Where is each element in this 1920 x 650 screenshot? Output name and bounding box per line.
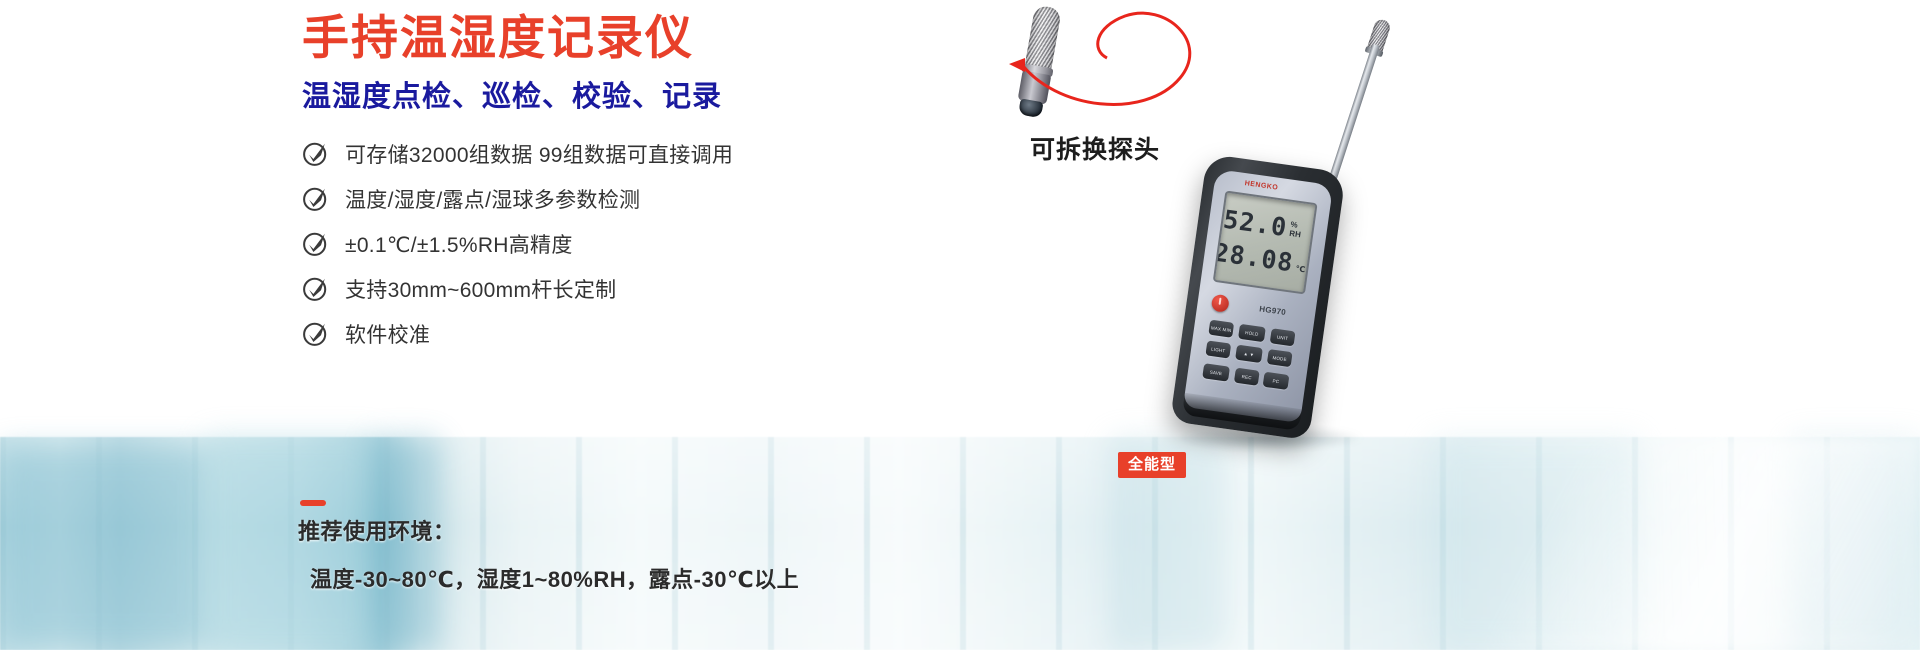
feature-text: 软件校准 — [345, 319, 430, 349]
keypad-button-label: UNIT — [1270, 333, 1294, 341]
keypad-button-label: LIGHT — [1206, 345, 1230, 353]
page-title: 手持温湿度记录仪 — [302, 8, 694, 68]
keypad-button[interactable]: REC — [1234, 368, 1260, 386]
lcd-humidity-unit: % RH — [1289, 220, 1312, 241]
list-item: 支持30mm~600mm杆长定制 — [302, 266, 942, 311]
environment-block: 推荐使用环境： 温度-30~80℃，湿度1~80%RH，露点-30℃以上 — [298, 515, 799, 596]
lcd-temperature-unit: ℃ — [1295, 264, 1306, 274]
check-circle-icon — [302, 275, 329, 302]
list-item: 可存储32000组数据 99组数据可直接调用 — [302, 131, 942, 176]
keypad-button[interactable]: UNIT — [1270, 328, 1296, 346]
keypad-button-label: MAX MIN — [1209, 325, 1233, 333]
lcd-temperature-value: 28.08 — [1213, 240, 1295, 276]
keypad-button[interactable]: LIGHT — [1205, 340, 1231, 358]
curved-arrow-icon — [995, 0, 1225, 120]
accent-dash — [300, 500, 326, 506]
keypad-button[interactable]: MAX MIN — [1208, 320, 1234, 338]
keypad-button-label: REC — [1235, 373, 1259, 381]
lcd-temperature-row: 28.08 ℃ — [1217, 240, 1313, 278]
model-label: HG970 — [1259, 304, 1287, 317]
lcd-display: 52.0 % RH 28.08 ℃ — [1213, 190, 1318, 294]
keypad-button-label: HOLD — [1239, 329, 1265, 338]
feature-text: 温度/湿度/露点/湿球多参数检测 — [345, 184, 640, 214]
environment-value: 温度-30~80℃，湿度1~80%RH，露点-30℃以上 — [310, 563, 799, 596]
list-item: 温度/湿度/露点/湿球多参数检测 — [302, 176, 942, 221]
list-item: 软件校准 — [302, 311, 942, 356]
check-circle-icon — [302, 230, 329, 257]
check-circle-icon — [302, 185, 329, 212]
product-area: 可拆换探头 HENGKO 52.0 % RH 28.08 — [940, 0, 1920, 650]
feature-text: 支持30mm~600mm杆长定制 — [345, 274, 616, 304]
probe-label: 可拆换探头 — [980, 130, 1210, 166]
text-column: 手持温湿度记录仪 温湿度点检、巡检、校验、记录 可存储32000组数据 99组数… — [0, 0, 960, 650]
status-badge: 全能型 — [1118, 452, 1186, 478]
brand-logo: HENGKO — [1244, 180, 1278, 192]
power-button[interactable] — [1211, 294, 1230, 313]
list-item: ±0.1℃/±1.5%RH高精度 — [302, 221, 942, 266]
handheld-meter-device: HENGKO 52.0 % RH 28.08 ℃ HG970 MAX MIN H… — [1170, 154, 1346, 441]
check-circle-icon — [302, 320, 329, 347]
page-subtitle: 温湿度点检、巡检、校验、记录 — [302, 79, 722, 117]
keypad-button[interactable]: SAVE — [1202, 363, 1230, 381]
keypad-button-label: ▲ ▼ — [1236, 350, 1262, 359]
keypad-button-label: PC — [1263, 377, 1288, 385]
keypad-button[interactable]: PC — [1263, 372, 1290, 390]
check-circle-icon — [302, 140, 329, 167]
keypad-button[interactable]: ▲ ▼ — [1235, 345, 1263, 363]
product-banner: 手持温湿度记录仪 温湿度点检、巡检、校验、记录 可存储32000组数据 99组数… — [0, 0, 1920, 650]
feature-list: 可存储32000组数据 99组数据可直接调用 温度/湿度/露点/湿球多参数检测 — [302, 131, 942, 356]
environment-label: 推荐使用环境： — [298, 515, 799, 548]
lcd-humidity-row: 52.0 % RH — [1222, 207, 1318, 245]
keypad-button-label: MODE — [1267, 354, 1291, 362]
lcd-humidity-value: 52.0 — [1222, 207, 1289, 241]
feature-text: ±0.1℃/±1.5%RH高精度 — [345, 229, 573, 259]
keypad-button[interactable]: HOLD — [1238, 324, 1266, 342]
feature-text: 可存储32000组数据 99组数据可直接调用 — [345, 139, 733, 169]
keypad-button[interactable]: MODE — [1267, 349, 1293, 367]
keypad-button-label: SAVE — [1203, 368, 1229, 377]
